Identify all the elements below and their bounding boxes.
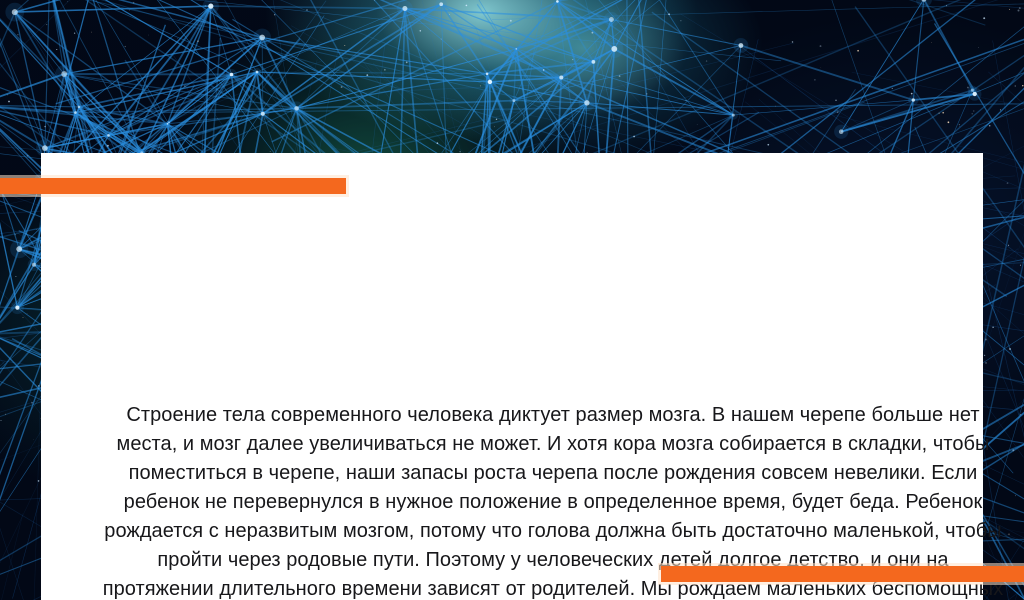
presentation-slide: Строение тела современного человека дикт… [0,0,1024,600]
content-card: Строение тела современного человека дикт… [41,153,983,600]
top-accent-bar [0,178,346,194]
bottom-accent-bar [661,566,1024,582]
